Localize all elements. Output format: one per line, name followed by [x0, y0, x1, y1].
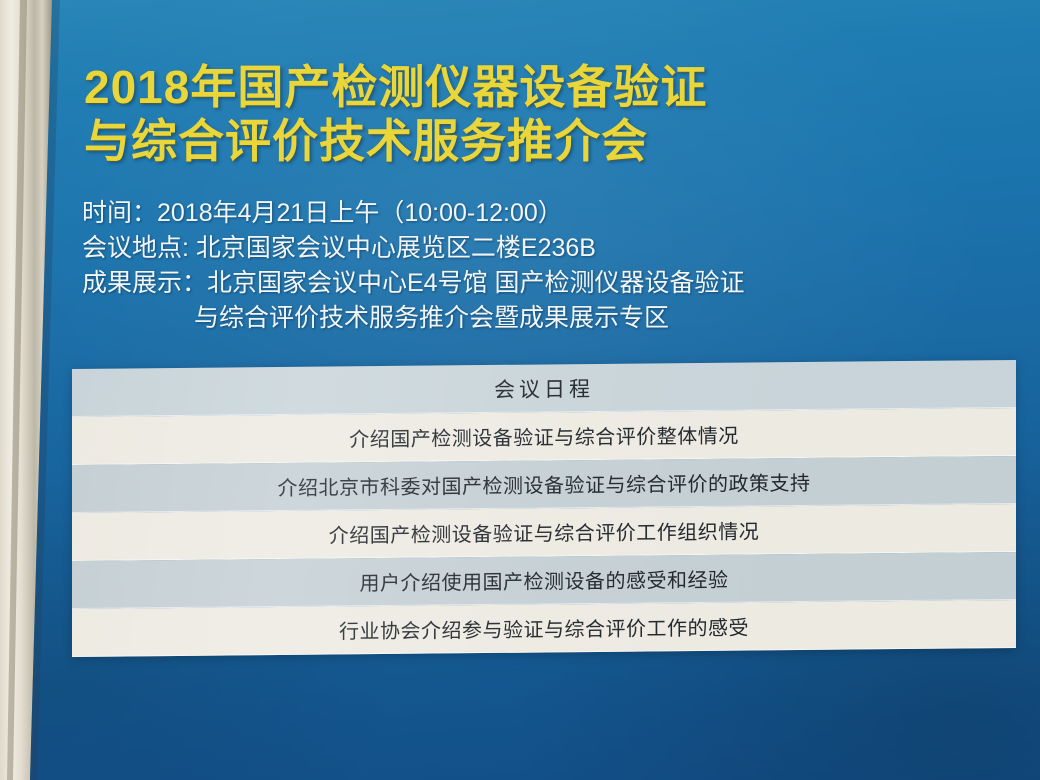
conference-poster: 2018年国产检测仪器设备验证 与综合评价技术服务推介会 时间：2018年4月2… — [0, 0, 1040, 780]
poster-headline: 2018年国产检测仪器设备验证 与综合评价技术服务推介会 — [84, 60, 864, 168]
agenda-row-5: 行业协会介绍参与验证与综合评价工作的感受 — [72, 600, 1016, 657]
info-line-exhibition-cont: 与综合评价技术服务推介会暨成果展示专区 — [82, 301, 902, 336]
poster-title-line-2: 与综合评价技术服务推介会 — [84, 114, 864, 168]
agenda-table: 会议日程 介绍国产检测设备验证与综合评价整体情况 介绍北京市科委对国产检测设备验… — [72, 360, 1016, 657]
info-line-exhibition: 成果展示：北京国家会议中心E4号馆 国产检测仪器设备验证 — [82, 266, 902, 301]
info-line-venue: 会议地点: 北京国家会议中心展览区二楼E236B — [82, 231, 902, 266]
poster-info-block: 时间：2018年4月21日上午（10:00-12:00） 会议地点: 北京国家会… — [82, 196, 902, 336]
poster-title-line-1: 2018年国产检测仪器设备验证 — [84, 60, 864, 114]
info-line-time: 时间：2018年4月21日上午（10:00-12:00） — [82, 196, 902, 231]
